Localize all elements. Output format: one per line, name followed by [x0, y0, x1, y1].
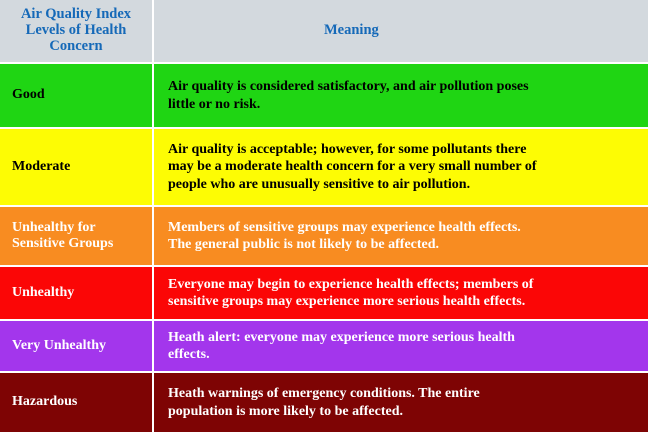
- level-label-very-unhealthy: Very Unhealthy: [0, 320, 153, 372]
- meaning-very-unhealthy-line-1: Heath alert: everyone may experience mor…: [168, 329, 632, 346]
- meaning-text-unhealthy-for-sensitive-groups: Members of sensitive groups may experien…: [153, 206, 649, 266]
- table-row-unhealthy-for-sensitive-groups: Unhealthy for Sensitive Groups Members o…: [0, 206, 649, 266]
- level-label-very-unhealthy-line-1: Very Unhealthy: [12, 338, 146, 354]
- level-label-moderate: Moderate: [0, 128, 153, 206]
- level-label-unhealthy-line-1: Unhealthy: [12, 285, 146, 301]
- meaning-unhealthy-line-1: Everyone may begin to experience health …: [168, 276, 632, 293]
- column-header-level-line-2: Levels of Health: [6, 22, 146, 38]
- level-label-good: Good: [0, 63, 153, 128]
- level-label-unhealthy-for-sensitive-groups: Unhealthy for Sensitive Groups: [0, 206, 153, 266]
- column-header-level-line-1: Air Quality Index: [6, 6, 146, 22]
- table-row-moderate: Moderate Air quality is acceptable; howe…: [0, 128, 649, 206]
- column-header-meaning: Meaning: [153, 0, 649, 63]
- meaning-usg-line-2: The general public is not likely to be a…: [168, 236, 632, 253]
- meaning-text-moderate: Air quality is acceptable; however, for …: [153, 128, 649, 206]
- level-label-usg-line-2: Sensitive Groups: [12, 236, 146, 252]
- air-quality-index-table: Air Quality Index Levels of Health Conce…: [0, 0, 649, 432]
- level-label-hazardous: Hazardous: [0, 372, 153, 432]
- table-row-good: Good Air quality is considered satisfact…: [0, 63, 649, 128]
- meaning-text-very-unhealthy: Heath alert: everyone may experience mor…: [153, 320, 649, 372]
- meaning-very-unhealthy-line-2: effects.: [168, 346, 632, 363]
- meaning-usg-line-1: Members of sensitive groups may experien…: [168, 219, 632, 236]
- meaning-moderate-line-1: Air quality is acceptable; however, for …: [168, 141, 632, 158]
- table-row-unhealthy: Unhealthy Everyone may begin to experien…: [0, 266, 649, 320]
- meaning-unhealthy-line-2: sensitive groups may experience more ser…: [168, 293, 632, 310]
- level-label-unhealthy: Unhealthy: [0, 266, 153, 320]
- column-header-level-line-3: Concern: [6, 38, 146, 54]
- level-label-good-line-1: Good: [12, 87, 146, 103]
- level-label-hazardous-line-1: Hazardous: [12, 394, 146, 410]
- meaning-good-line-1: Air quality is considered satisfactory, …: [168, 78, 632, 95]
- meaning-text-hazardous: Heath warnings of emergency conditions. …: [153, 372, 649, 432]
- meaning-good-line-2: little or no risk.: [168, 96, 632, 113]
- level-label-moderate-line-1: Moderate: [12, 159, 146, 175]
- meaning-text-unhealthy: Everyone may begin to experience health …: [153, 266, 649, 320]
- table-row-very-unhealthy: Very Unhealthy Heath alert: everyone may…: [0, 320, 649, 372]
- meaning-hazardous-line-1: Heath warnings of emergency conditions. …: [168, 385, 632, 402]
- level-label-usg-line-1: Unhealthy for: [12, 220, 146, 236]
- table-row-hazardous: Hazardous Heath warnings of emergency co…: [0, 372, 649, 432]
- column-header-level: Air Quality Index Levels of Health Conce…: [0, 0, 153, 63]
- table-header-row: Air Quality Index Levels of Health Conce…: [0, 0, 649, 63]
- meaning-moderate-line-2: may be a moderate health concern for a v…: [168, 158, 632, 175]
- meaning-moderate-line-3: people who are unusually sensitive to ai…: [168, 176, 632, 193]
- meaning-text-good: Air quality is considered satisfactory, …: [153, 63, 649, 128]
- meaning-hazardous-line-2: population is more likely to be affected…: [168, 403, 632, 420]
